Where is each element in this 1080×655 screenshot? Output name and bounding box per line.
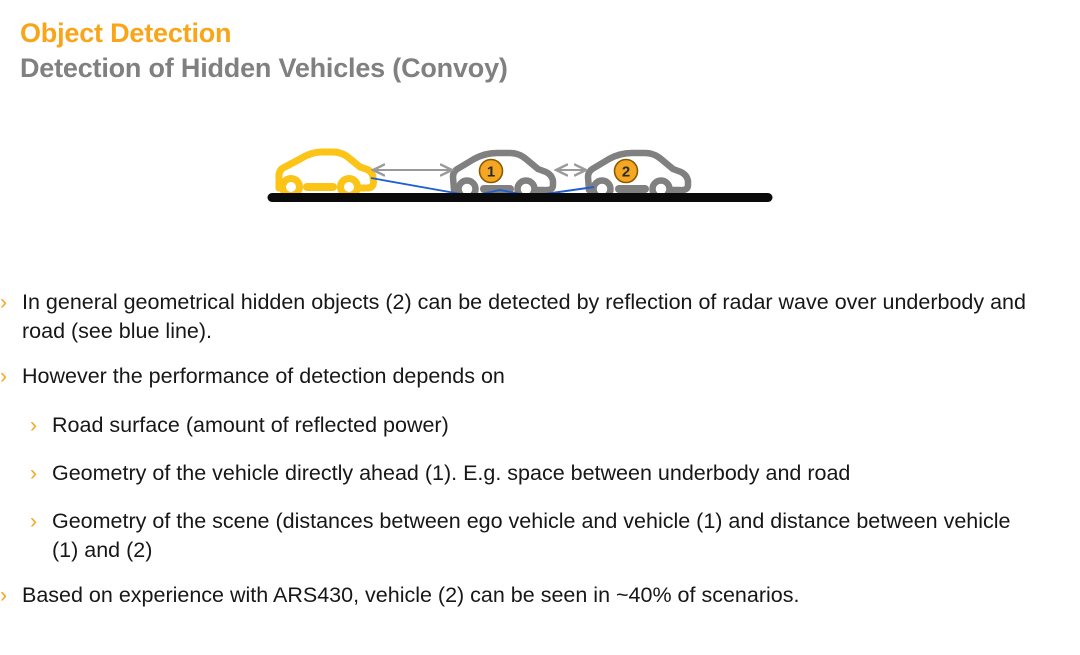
list-item: › Road surface (amount of reflected powe… <box>0 411 1080 440</box>
list-item-text: In general geometrical hidden objects (2… <box>22 288 1080 346</box>
bullet-chevron-icon: › <box>0 362 22 391</box>
list-item: › Geometry of the vehicle directly ahead… <box>0 459 1080 488</box>
bullet-chevron-icon: › <box>30 507 52 536</box>
vehicle-2-badge: 2 <box>615 160 638 183</box>
list-item-text: However the performance of detection dep… <box>22 362 1080 391</box>
list-item: › Geometry of the scene (distances betwe… <box>0 507 1080 565</box>
list-item: › In general geometrical hidden objects … <box>0 288 1080 346</box>
ego-vehicle-icon <box>279 152 374 196</box>
vehicle-2-icon <box>588 153 688 198</box>
convoy-radar-reflection-diagram: 1 2 <box>0 125 1080 225</box>
page-subtitle: Detection of Hidden Vehicles (Convoy) <box>20 52 1020 84</box>
list-item: › However the performance of detection d… <box>0 362 1080 391</box>
bullet-list: › In general geometrical hidden objects … <box>0 288 1080 610</box>
bullet-chevron-icon: › <box>0 288 22 317</box>
vehicle-1-badge-label: 1 <box>487 164 495 181</box>
list-item-text: Based on experience with ARS430, vehicle… <box>22 581 1080 610</box>
list-item-text: Geometry of the vehicle directly ahead (… <box>52 459 1080 488</box>
list-item: › Based on experience with ARS430, vehic… <box>0 581 1080 610</box>
vehicle-1-badge: 1 <box>480 160 503 183</box>
bullet-chevron-icon: › <box>30 459 52 488</box>
list-item-text: Road surface (amount of reflected power) <box>52 411 1080 440</box>
vehicle-2-badge-label: 2 <box>622 164 630 181</box>
bullet-chevron-icon: › <box>30 411 52 440</box>
list-item-text: Geometry of the scene (distances between… <box>52 507 1080 565</box>
bullet-chevron-icon: › <box>0 581 22 610</box>
slide-header: Object Detection Detection of Hidden Veh… <box>20 18 1020 84</box>
page-title: Object Detection <box>20 18 1020 50</box>
